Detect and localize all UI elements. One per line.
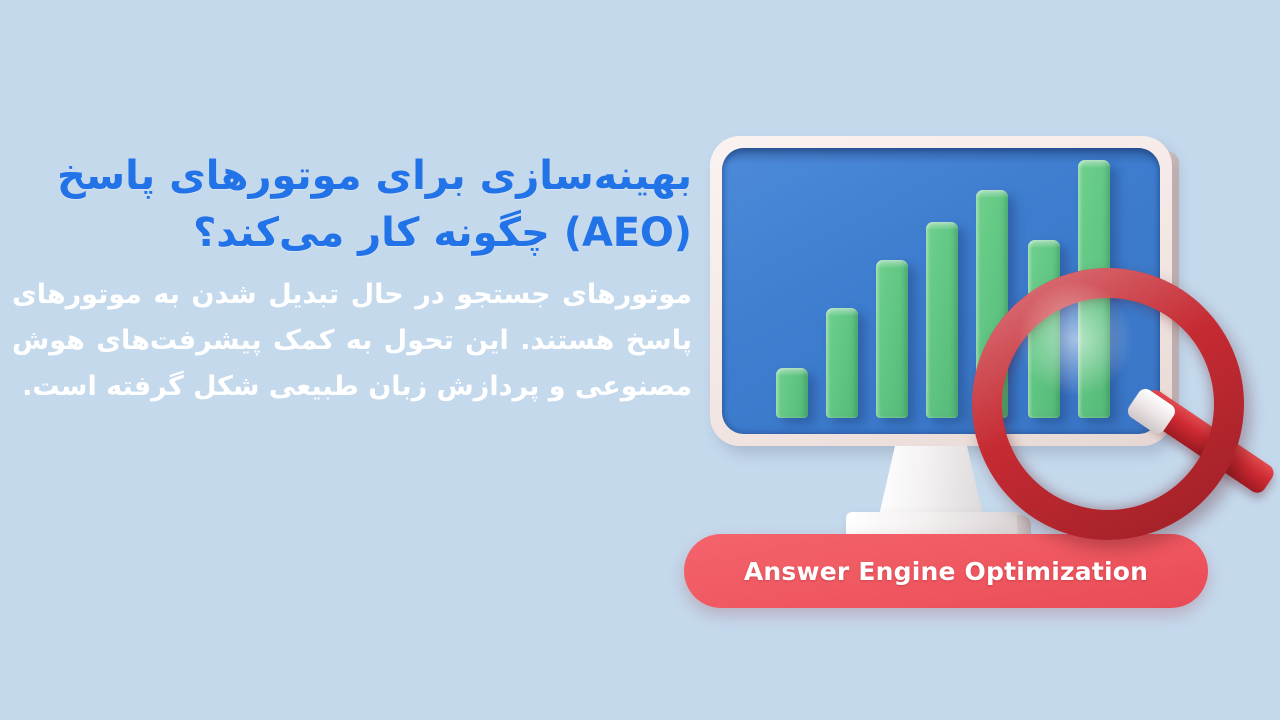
bar-2 xyxy=(826,308,858,418)
aeo-badge: Answer Engine Optimization xyxy=(684,534,1208,608)
bar-4 xyxy=(926,222,958,418)
magnifier-ring xyxy=(972,268,1244,540)
magnifier-icon xyxy=(966,264,1280,520)
aeo-badge-label: Answer Engine Optimization xyxy=(744,557,1148,586)
poster-canvas: بهینه‌سازی برای موتورهای پاسخ (AEO) چگون… xyxy=(0,0,1280,720)
page-title: بهینه‌سازی برای موتورهای پاسخ (AEO) چگون… xyxy=(8,148,692,262)
bar-1 xyxy=(776,368,808,418)
bar-3 xyxy=(876,260,908,418)
body-paragraph: موتورهای جستجو در حال تبدیل شدن به موتور… xyxy=(8,272,692,411)
text-column: بهینه‌سازی برای موتورهای پاسخ (AEO) چگون… xyxy=(8,148,692,411)
